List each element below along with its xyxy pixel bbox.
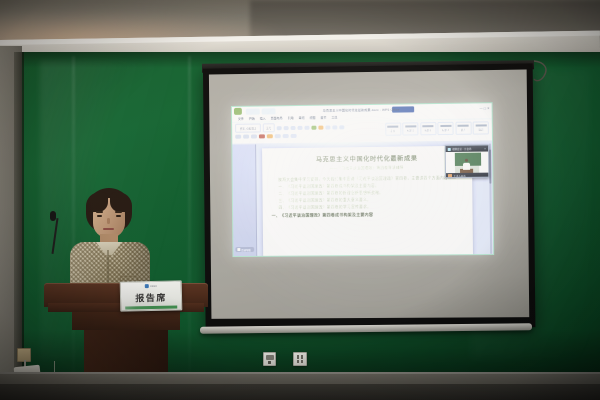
document-tab[interactable]	[262, 108, 276, 114]
wps-logo-icon	[234, 108, 242, 115]
align-right-button[interactable]	[339, 125, 344, 129]
document-subtitle: ——《习近平谈治国理政》第四卷导读辅导	[271, 165, 463, 172]
underline-button[interactable]	[291, 125, 296, 129]
outlet-slots-top	[297, 355, 303, 359]
outline-nav-button[interactable]: 目录导航	[235, 247, 254, 252]
style-swatch	[387, 126, 398, 128]
outlet-slot	[297, 355, 299, 359]
projected-computer-image: 马克思主义中国化时代化最新成果.docx - WPS Office — ▢ ✕ …	[231, 102, 494, 257]
lecture-hall-photo: 马克思主义中国化时代化最新成果.docx - WPS Office — ▢ ✕ …	[0, 0, 600, 400]
menu-item-review[interactable]: 审阅	[298, 116, 304, 120]
speaker-nose	[107, 218, 110, 224]
style-preset-h2[interactable]: 标题 2	[420, 122, 436, 135]
nameplate-accent-rule	[125, 305, 177, 309]
nameplate-logo: XXXX	[145, 284, 157, 288]
outline-icon	[237, 248, 240, 251]
network-plate-screw	[268, 361, 271, 364]
sort-button[interactable]	[283, 134, 289, 138]
menu-item-layout[interactable]: 页面布局	[271, 116, 283, 120]
speaker-eye-left	[97, 215, 102, 217]
network-port-icon	[266, 355, 274, 360]
font-color-button[interactable]	[318, 125, 323, 129]
style-label: 正文	[390, 129, 395, 133]
speaker-eyebrow-left	[96, 211, 103, 213]
video-conference-pip[interactable]: 视频会议 - 主会场 ✕	[445, 144, 490, 178]
network-plate	[263, 352, 276, 366]
speaker-hair-fringe-left	[86, 192, 108, 212]
pip-video-feed	[446, 152, 489, 174]
style-label: 标题 1	[407, 128, 414, 132]
podium-neck	[72, 312, 180, 330]
bold-button[interactable]	[277, 126, 282, 130]
style-swatch	[440, 125, 451, 127]
document-title: 马克思主义中国化时代化最新成果	[271, 153, 463, 164]
document-tab[interactable]	[246, 108, 260, 114]
align-left-button[interactable]	[325, 125, 330, 129]
document-tabs	[246, 108, 276, 114]
nameplate-text: 报告席	[135, 291, 167, 305]
document-page[interactable]: 马克思主义中国化时代化最新成果 ——《习近平谈治国理政》第四卷导读辅导 按照大会…	[262, 146, 473, 257]
window-title: 马克思主义中国化时代化最新成果.docx - WPS Office	[323, 107, 400, 112]
highlight-button[interactable]	[311, 125, 316, 129]
projector-screen: 马克思主义中国化时代化最新成果.docx - WPS Office — ▢ ✕ …	[203, 63, 535, 328]
superscript-button[interactable]	[304, 125, 309, 129]
projection-surface: 马克思主义中国化时代化最新成果.docx - WPS Office — ▢ ✕ …	[209, 69, 529, 318]
style-label: 标题 2	[424, 128, 431, 132]
pip-speaker	[463, 159, 470, 170]
camera-icon	[448, 147, 451, 150]
style-swatch	[422, 125, 433, 127]
pip-footer-bar: 主讲人画面	[446, 173, 488, 179]
speaker-eye-right	[116, 215, 121, 217]
skirting-top-edge	[0, 372, 600, 374]
window-controls[interactable]: — ▢ ✕	[479, 106, 489, 110]
show-marks-button[interactable]	[291, 134, 297, 138]
menu-item-file[interactable]: 文件	[238, 117, 244, 121]
font-name-select[interactable]: 仿宋_GB2312	[235, 123, 261, 132]
navigation-sidebar[interactable]: 目录导航	[232, 144, 257, 257]
outlet-slots-bottom	[297, 360, 303, 363]
pip-close-icon[interactable]: ✕	[484, 147, 486, 150]
strikethrough-button[interactable]	[298, 125, 303, 129]
speaker-hair-fringe-right	[110, 192, 132, 212]
style-preset-h1[interactable]: 标题 1	[402, 122, 418, 135]
style-label: 要点	[461, 128, 466, 132]
pip-footer-label: 主讲人画面	[454, 174, 466, 178]
bullet-list-button[interactable]	[235, 135, 241, 139]
style-swatch	[458, 125, 469, 127]
menu-item-section[interactable]: 章节	[320, 116, 326, 120]
menu-item-refs[interactable]: 引用	[288, 116, 294, 120]
numbered-list-button[interactable]	[243, 135, 249, 139]
menu-item-home[interactable]: 开始	[249, 117, 255, 121]
style-preset-normal[interactable]: 正文	[385, 123, 401, 136]
align-center-button[interactable]	[332, 125, 337, 129]
italic-button[interactable]	[284, 126, 289, 130]
status-bar: 页码: 1/12 字数: 3,482 − + 100%	[234, 256, 494, 257]
org-logo-icon	[145, 284, 149, 288]
menu-item-insert[interactable]: 插入	[260, 116, 266, 120]
screen-cable-hook	[530, 60, 552, 86]
outlet-slot	[297, 360, 299, 363]
font-size-select[interactable]: 三号	[263, 123, 275, 132]
style-swatch	[475, 124, 486, 126]
menu-item-view[interactable]: 视图	[309, 116, 315, 120]
floor	[0, 384, 600, 400]
style-preset-point[interactable]: 要点	[455, 122, 471, 135]
indent-button[interactable]	[251, 134, 257, 138]
document-heading: 一、《习近平谈治国理政》第四卷成书构架及主要内容	[272, 210, 464, 219]
borders-button[interactable]	[275, 134, 281, 138]
outline-nav-label: 目录导航	[241, 247, 250, 251]
nameplate-org-label: XXXX	[150, 284, 157, 287]
pip-speaker-body	[463, 163, 470, 170]
editor-body: 目录导航 马克思主义中国化时代化最新成果 ——《习近平谈治国理政》第四卷导读辅导…	[232, 141, 493, 257]
outlet-slot	[301, 355, 303, 359]
microphone-head	[50, 211, 56, 221]
style-preset-emphasis[interactable]: 强调	[473, 121, 489, 134]
pip-title: 视频会议 - 主会场	[452, 147, 471, 151]
pip-speaker-head	[465, 159, 468, 162]
speaker-indicator-icon	[448, 174, 452, 178]
style-swatch	[405, 125, 416, 127]
style-preset-h3[interactable]: 标题 3	[437, 122, 453, 135]
power-outlet-plate	[293, 352, 307, 366]
line-spacing-button[interactable]	[259, 134, 265, 138]
pip-wall-left	[446, 152, 455, 173]
style-label: 强调	[478, 127, 483, 131]
menu-item-tools[interactable]: 工具	[331, 115, 337, 119]
outlet-slot	[301, 360, 303, 363]
style-gallery: 正文 标题 1 标题 2 标题 3	[385, 121, 489, 135]
shading-button[interactable]	[267, 134, 273, 138]
speaker-eyebrow-right	[115, 211, 122, 213]
podium-nameplate: XXXX 报告席	[120, 280, 183, 311]
style-label: 标题 3	[442, 128, 449, 132]
